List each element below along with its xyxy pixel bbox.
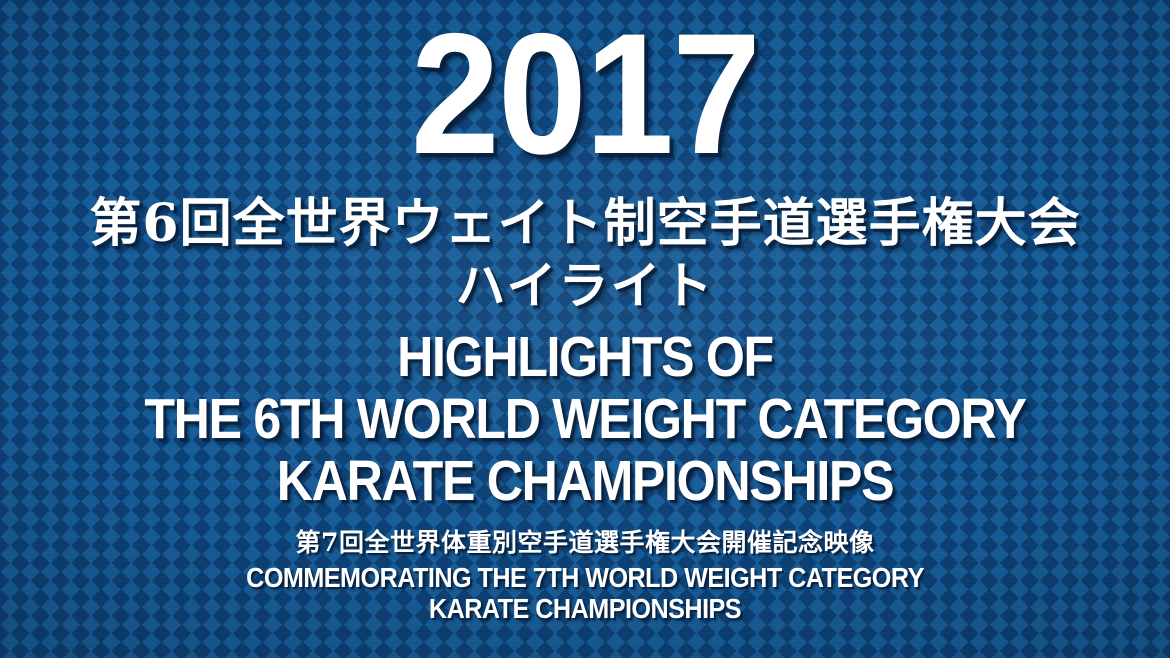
english-heading-line-3: KARATE CHAMPIONSHIPS	[70, 450, 1100, 512]
year-heading: 2017	[41, 8, 1129, 180]
japanese-heading-line-2: ハイライト	[0, 259, 1170, 313]
english-heading: HIGHLIGHTS OF THE 6TH WORLD WEIGHT CATEG…	[0, 326, 1170, 512]
title-content: 2017 第6回全世界ウェイト制空手道選手権大会 ハイライト HIGHLIGHT…	[0, 0, 1170, 658]
english-subtitle: COMMEMORATING THE 7TH WORLD WEIGHT CATEG…	[0, 562, 1170, 624]
japanese-heading-line-1: 第6回全世界ウェイト制空手道選手権大会	[0, 196, 1170, 252]
japanese-subtitle: 第7回全世界体重別空手道選手権大会開催記念映像	[0, 529, 1170, 557]
english-subtitle-line-2: KARATE CHAMPIONSHIPS	[59, 593, 1112, 624]
title-card: 2017 第6回全世界ウェイト制空手道選手権大会 ハイライト HIGHLIGHT…	[0, 0, 1170, 658]
english-subtitle-line-1: COMMEMORATING THE 7TH WORLD WEIGHT CATEG…	[59, 562, 1112, 593]
english-heading-line-1: HIGHLIGHTS OF	[70, 326, 1100, 388]
english-heading-line-2: THE 6TH WORLD WEIGHT CATEGORY	[70, 388, 1100, 450]
